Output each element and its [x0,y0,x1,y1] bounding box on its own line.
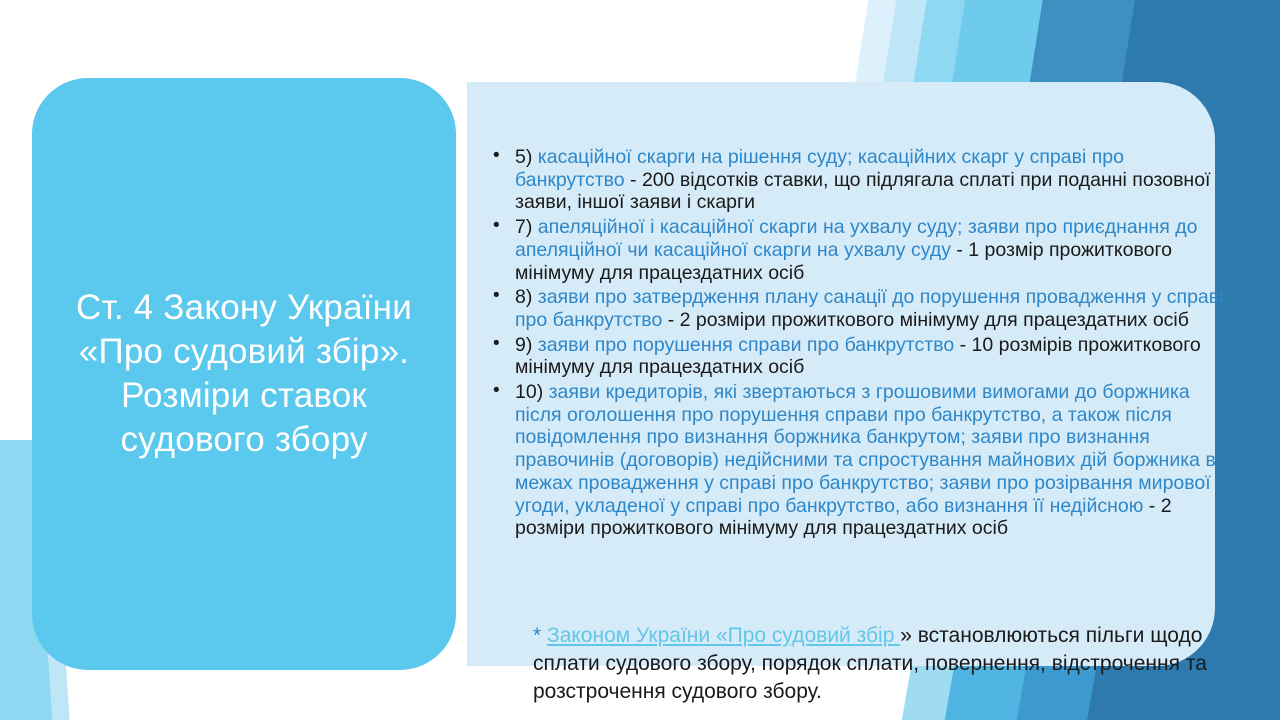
list-item: 10) заяви кредиторів, які звертаються з … [487,381,1227,540]
list-item: 7) апеляційної і касаційної скарги на ух… [487,216,1227,284]
bullet-highlight: заяви про порушення справи про банкрутст… [538,334,954,356]
bullet-list: 5) касаційної скарги на рішення суду; ка… [487,146,1227,542]
footnote: * Законом України «Про судовий збір » вс… [533,622,1233,706]
bullet-number: 5) [515,146,532,168]
bullet-number: 9) [515,334,532,356]
title-card: Ст. 4 Закону України «Про судовий збір».… [32,78,456,670]
bullet-rest: - 2 розміри прожиткового мінімуму для пр… [662,309,1189,331]
footnote-asterisk: * [533,624,547,647]
list-item: 8) заяви про затвердження плану санації … [487,286,1227,331]
bullet-number: 8) [515,286,532,308]
bullet-number: 7) [515,216,532,238]
list-item: 9) заяви про порушення справи про банкру… [487,334,1227,379]
law-link[interactable]: Законом України «Про судовий збір [547,624,900,647]
bullet-highlight: заяви кредиторів, які звертаються з грош… [515,381,1216,517]
page-title: Ст. 4 Закону України «Про судовий збір».… [54,286,434,462]
bullet-number: 10) [515,381,543,403]
slide: Ст. 4 Закону України «Про судовий збір».… [0,0,1280,720]
list-item: 5) касаційної скарги на рішення суду; ка… [487,146,1227,214]
